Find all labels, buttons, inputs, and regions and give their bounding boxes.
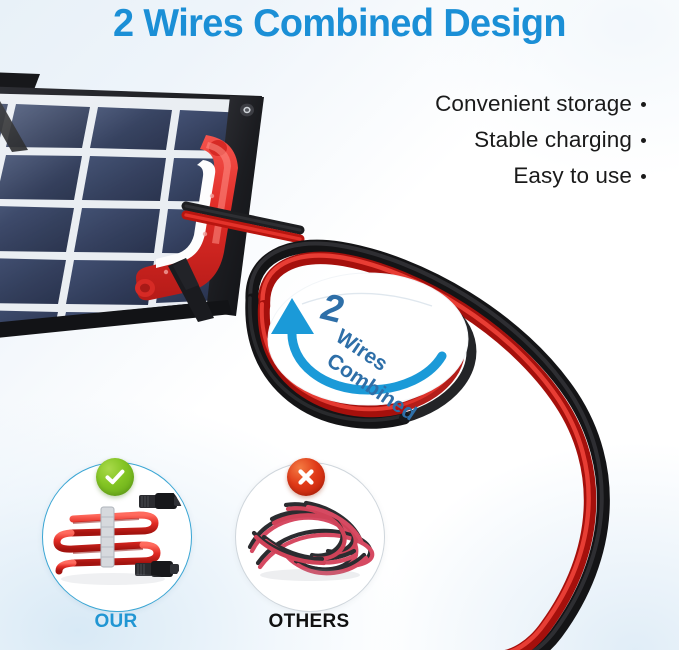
- x-glyph: [295, 466, 317, 488]
- wires-combined-badge: 2 Wires Combined: [262, 268, 474, 410]
- check-glyph: [104, 466, 126, 488]
- check-circle-icon: [96, 458, 134, 496]
- x-circle-icon: [287, 458, 325, 496]
- infographic-canvas: 2 Wires Combined Design Convenient stora…: [0, 0, 679, 650]
- badge-disc: [262, 268, 474, 410]
